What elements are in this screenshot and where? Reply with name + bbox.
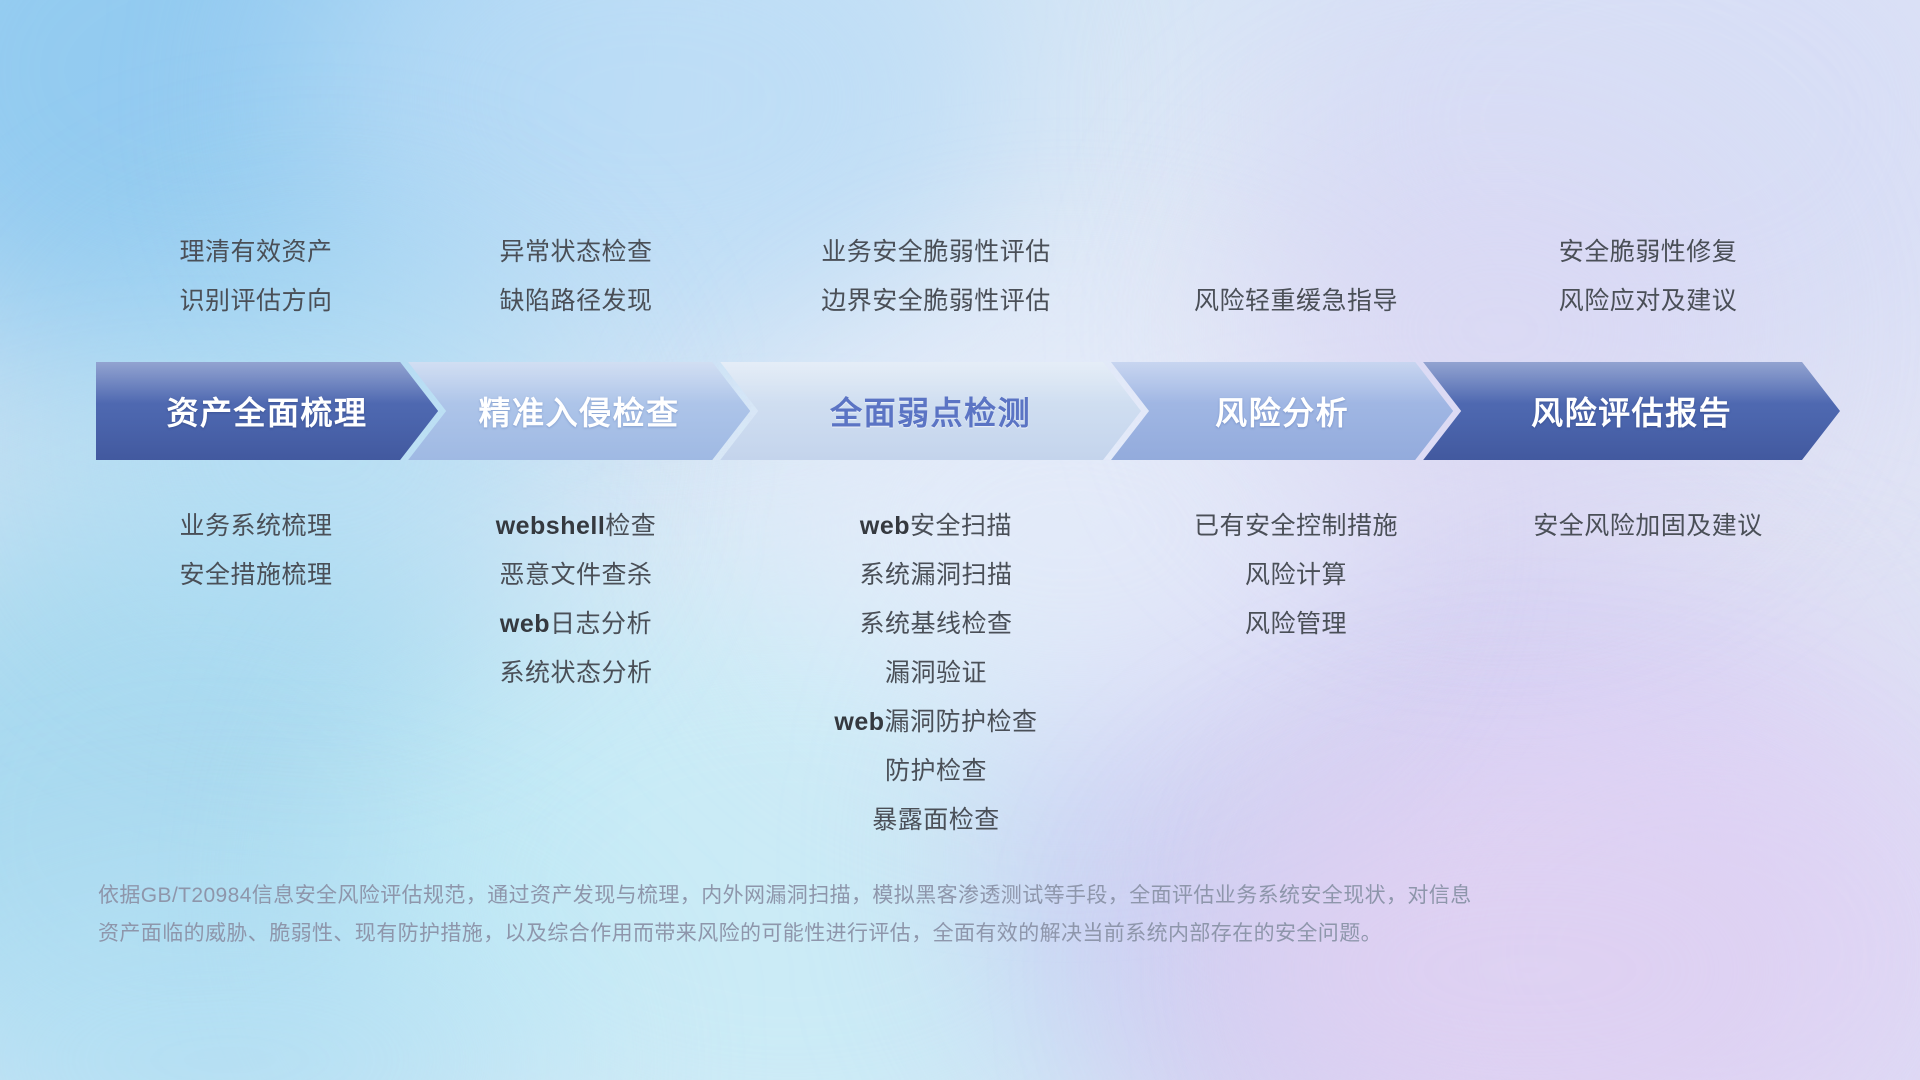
- detail-column-3: web安全扫描系统漏洞扫描系统基线检查漏洞验证web漏洞防护检查防护检查暴露面检…: [736, 502, 1136, 845]
- detail-item-prefix: webshell: [496, 512, 606, 540]
- process-step-4[interactable]: 风险分析: [1111, 362, 1453, 460]
- detail-item-text: 安全扫描: [910, 512, 1012, 540]
- footer-line-2: 资产面临的威胁、脆弱性、现有防护措施，以及综合作用而带来风险的可能性进行评估，全…: [98, 915, 1818, 953]
- detail-item: 系统状态分析: [499, 649, 652, 698]
- detail-item: 安全措施梳理: [179, 551, 332, 600]
- process-step-label: 风险分析: [1215, 388, 1349, 434]
- top-caption: 风险应对及建议: [1559, 277, 1738, 326]
- detail-item: web漏洞防护检查: [834, 698, 1037, 747]
- top-caption-column-5: 安全脆弱性修复风险应对及建议: [1456, 228, 1840, 326]
- detail-item: 暴露面检查: [872, 796, 1000, 845]
- process-step-label: 精准入侵检查: [479, 388, 680, 434]
- detail-item: 安全风险加固及建议: [1533, 502, 1763, 551]
- process-chevron-band: 资产全面梳理精准入侵检查全面弱点检测风险分析风险评估报告: [96, 362, 1840, 460]
- process-step-1[interactable]: 资产全面梳理: [96, 362, 438, 460]
- top-caption-column-1: 理清有效资产识别评估方向: [96, 228, 416, 326]
- detail-item: 已有安全控制措施: [1194, 502, 1398, 551]
- detail-item-prefix: web: [860, 512, 910, 540]
- process-step-label: 风险评估报告: [1531, 388, 1732, 434]
- process-step-2[interactable]: 精准入侵检查: [408, 362, 750, 460]
- detail-item-prefix: web: [500, 610, 550, 638]
- footer-line-1: 依据GB/T20984信息安全风险评估规范，通过资产发现与梳理，内外网漏洞扫描，…: [98, 877, 1818, 915]
- top-caption: 风险轻重缓急指导: [1194, 277, 1398, 326]
- detail-item: 风险管理: [1245, 600, 1347, 649]
- top-caption: 业务安全脆弱性评估: [821, 228, 1051, 277]
- detail-item: 恶意文件查杀: [499, 551, 652, 600]
- top-caption: 安全脆弱性修复: [1559, 228, 1738, 277]
- detail-item: 业务系统梳理: [179, 502, 332, 551]
- top-caption: 异常状态检查: [499, 228, 652, 277]
- top-caption: 理清有效资产: [179, 228, 332, 277]
- detail-column-5: 安全风险加固及建议: [1456, 502, 1840, 551]
- detail-item: 系统漏洞扫描: [859, 551, 1012, 600]
- detail-item: 系统基线检查: [859, 600, 1012, 649]
- detail-column-4: 已有安全控制措施风险计算风险管理: [1136, 502, 1456, 649]
- detail-item: 风险计算: [1245, 551, 1347, 600]
- footer-description: 依据GB/T20984信息安全风险评估规范，通过资产发现与梳理，内外网漏洞扫描，…: [98, 877, 1818, 953]
- detail-column-2: webshell检查恶意文件查杀web日志分析系统状态分析: [416, 502, 736, 698]
- top-caption: 边界安全脆弱性评估: [821, 277, 1051, 326]
- detail-column-1: 业务系统梳理安全措施梳理: [96, 502, 416, 600]
- detail-item: web日志分析: [500, 600, 652, 649]
- top-caption: 识别评估方向: [179, 277, 332, 326]
- top-caption-column-3: 业务安全脆弱性评估边界安全脆弱性评估: [736, 228, 1136, 326]
- detail-item: 漏洞验证: [885, 649, 987, 698]
- process-step-label: 资产全面梳理: [167, 388, 368, 434]
- process-step-label: 全面弱点检测: [830, 388, 1031, 434]
- detail-item: 防护检查: [885, 747, 987, 796]
- top-caption: 缺陷路径发现: [499, 277, 652, 326]
- detail-item: webshell检查: [496, 502, 657, 551]
- process-step-5[interactable]: 风险评估报告: [1423, 362, 1840, 460]
- detail-item-text: 日志分析: [550, 610, 652, 638]
- detail-item-text: 漏洞防护检查: [885, 708, 1038, 736]
- top-caption-column-2: 异常状态检查缺陷路径发现: [416, 228, 736, 326]
- detail-item: web安全扫描: [860, 502, 1012, 551]
- detail-item-text: 检查: [605, 512, 656, 540]
- top-caption-column-4: 风险轻重缓急指导: [1136, 277, 1456, 326]
- detail-item-prefix: web: [834, 708, 884, 736]
- process-step-3[interactable]: 全面弱点检测: [720, 362, 1141, 460]
